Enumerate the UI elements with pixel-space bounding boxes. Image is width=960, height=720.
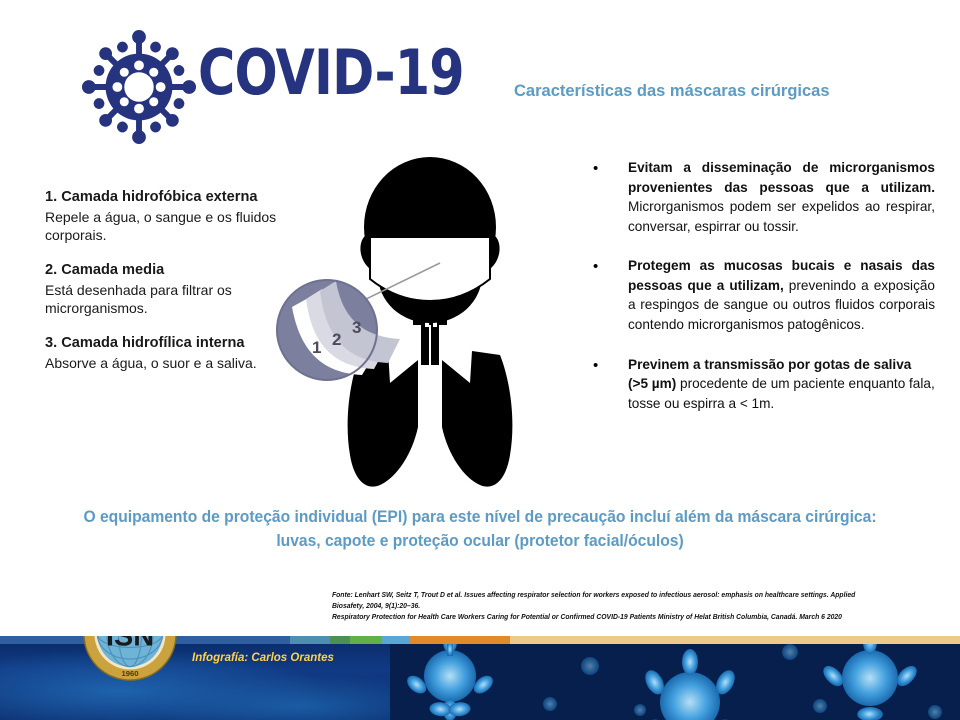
list-item: 3. Camada hidrofílica interna Absorve a …: [45, 334, 300, 372]
bullet-marker: •: [590, 355, 628, 414]
isn-logo: ISN 1960: [82, 636, 178, 682]
layer-description: Está desenhada para filtrar os microrgan…: [45, 281, 300, 317]
footer: ISN 1960 60 years 1960-2020 Infografía: …: [0, 636, 960, 720]
anniversary-badge: 60 years 1960-2020: [196, 636, 316, 640]
coronavirus-icon: [80, 28, 198, 146]
bullet-bold-lead: Evitam a disseminação de microrganismos …: [628, 160, 935, 195]
citation-line-3: Respiratory Protection for Health Care W…: [332, 612, 895, 623]
list-item: 1. Camada hidrofóbica externa Repele a á…: [45, 188, 300, 244]
list-item: 2. Camada media Está desenhada para filt…: [45, 261, 300, 317]
section-subtitle: Características das máscaras cirúrgicas: [514, 82, 830, 101]
bullet-marker: •: [590, 256, 628, 334]
layer-number-2: 2: [332, 330, 341, 349]
color-strip-segment: [350, 636, 382, 644]
bullet-marker: •: [590, 158, 628, 236]
layer-number-3: 3: [352, 318, 361, 337]
citation-line-2: Biosafety, 2004, 9(1):20–36.: [332, 601, 895, 612]
layer-number-1: 1: [312, 338, 321, 357]
layer-description: Absorve a água, o suor e a saliva.: [45, 354, 300, 372]
layer-heading: 1. Camada hidrofóbica externa: [45, 188, 300, 207]
page-title: COVID-19: [198, 42, 464, 104]
list-item: • Previnem a transmissão por gotas de sa…: [590, 355, 935, 414]
citation-line-1: Fonte: Lenhart SW, Seitz T, Trout D et a…: [332, 590, 895, 601]
bullet-text: Protegem as mucosas bucais e nasais das …: [628, 256, 935, 334]
source-citation: Fonte: Lenhart SW, Seitz T, Trout D et a…: [332, 590, 895, 622]
color-strip-segment: [382, 636, 410, 644]
conclusion-line-1: O equipamento de proteção individual (EP…: [58, 505, 903, 529]
list-item: • Protegem as mucosas bucais e nasais da…: [590, 256, 935, 334]
layer-heading: 3. Camada hidrofílica interna: [45, 334, 300, 353]
bullet-text: Previnem a transmissão por gotas de sali…: [628, 355, 935, 414]
layer-heading: 2. Camada media: [45, 261, 300, 280]
mask-layers-list: 1. Camada hidrofóbica externa Repele a á…: [45, 188, 300, 389]
virus-banner-image: [390, 636, 960, 720]
isn-acronym: ISN: [106, 636, 154, 653]
layer-description: Repele a água, o sangue e os fluidos cor…: [45, 208, 300, 244]
bullet-rest: Microrganismos podem ser expelidos ao re…: [628, 199, 935, 234]
header: COVID-19 Características das máscaras ci…: [0, 0, 960, 150]
conclusion-note: O equipamento de proteção individual (EP…: [58, 505, 903, 553]
credit-text: Infografía: Carlos Orantes: [192, 652, 334, 664]
benefits-bullet-list: • Evitam a disseminação de microrganismo…: [590, 158, 935, 433]
conclusion-line-2: luvas, capote e proteção ocular (proteto…: [58, 529, 903, 553]
color-strip-segment: [410, 636, 510, 644]
color-strip-segment: [330, 636, 350, 644]
isn-year: 1960: [121, 669, 138, 678]
surgical-mask: [370, 237, 490, 301]
color-strip-segment: [510, 636, 960, 644]
bullet-text: Evitam a disseminação de microrganismos …: [628, 158, 935, 236]
list-item: • Evitam a disseminação de microrganismo…: [590, 158, 935, 236]
masked-person-illustration: 1 2 3: [270, 155, 590, 500]
